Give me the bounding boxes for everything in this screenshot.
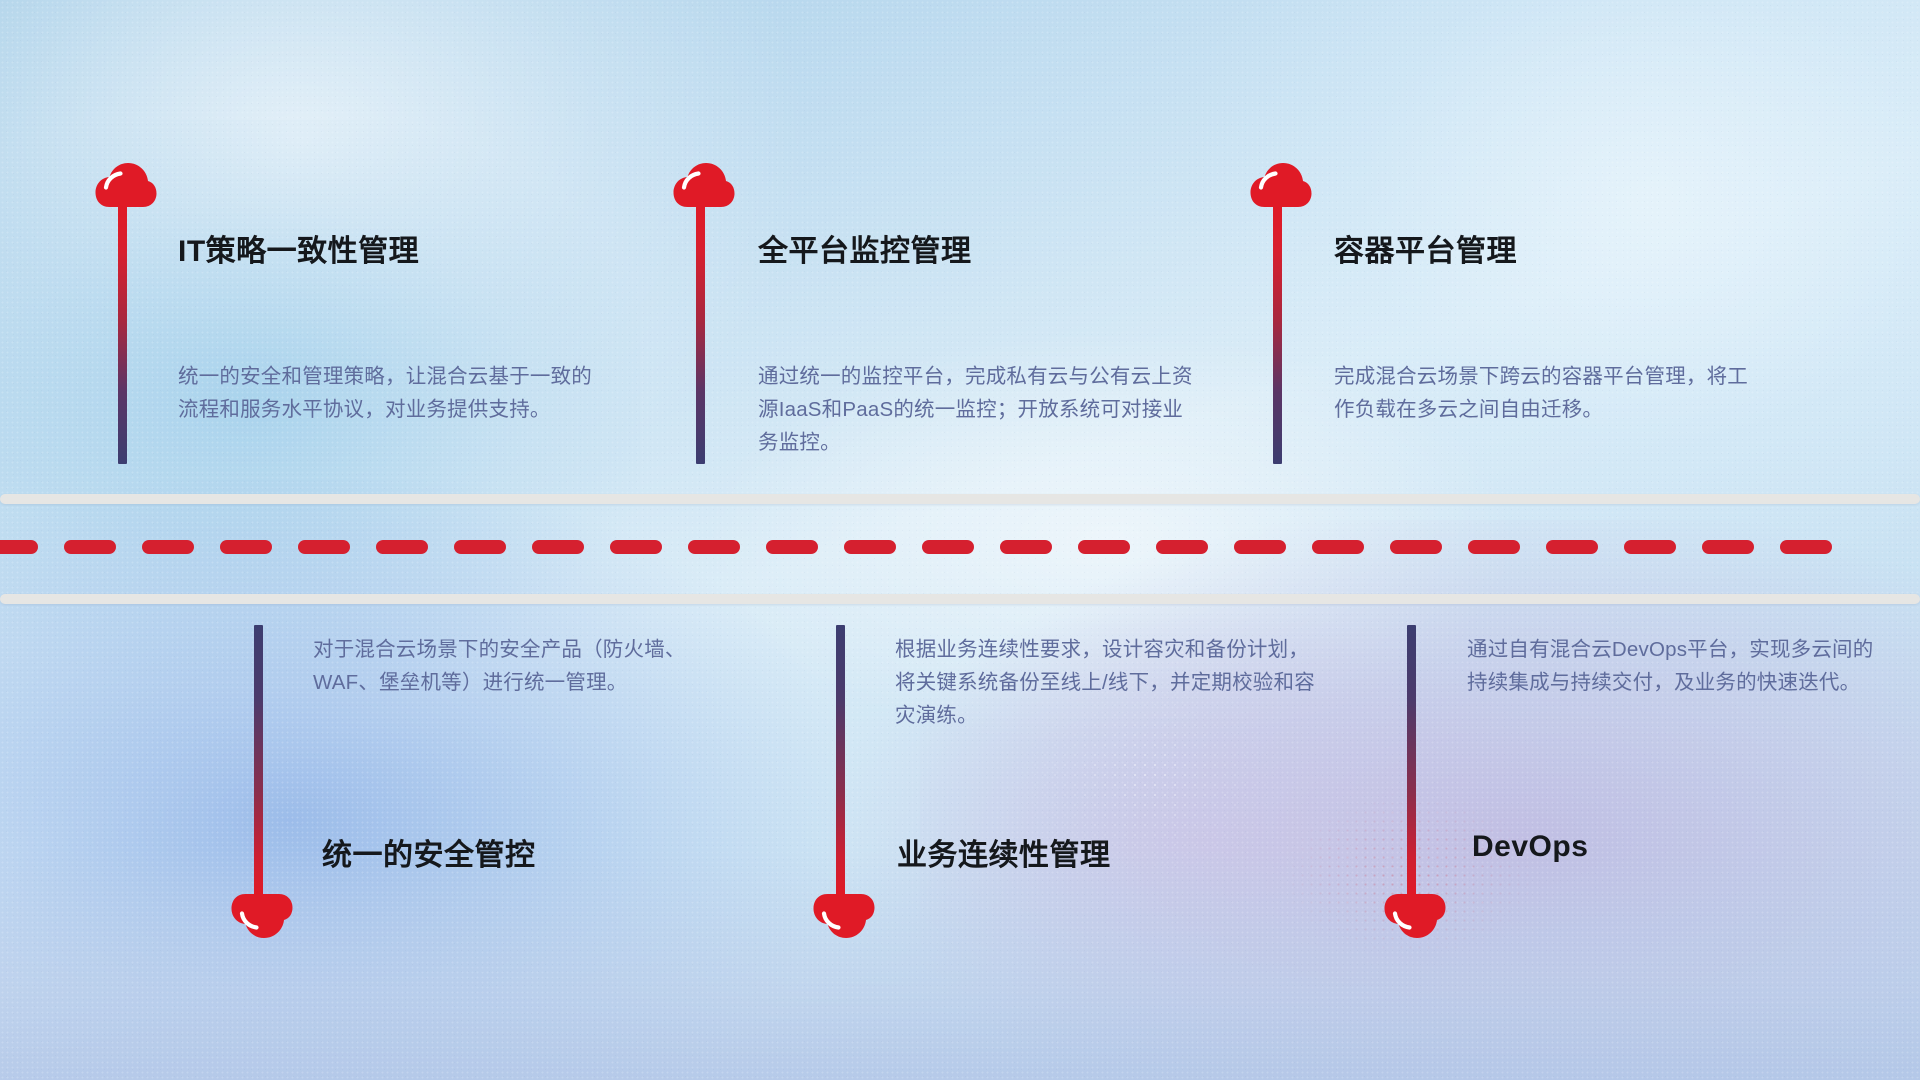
cloud-icon <box>231 893 293 939</box>
cloud-icon <box>673 162 735 208</box>
card-title: 业务连续性管理 <box>897 830 1111 874</box>
divider-bar-bottom <box>0 594 1920 604</box>
connector-stem <box>1407 625 1416 895</box>
cloud-icon <box>1250 162 1312 208</box>
card-body: 通过自有混合云DevOps平台，实现多云间的持续集成与持续交付，及业务的快速迭代… <box>1467 633 1887 699</box>
card-body: 通过统一的监控平台，完成私有云与公有云上资源IaaS和PaaS的统一监控；开放系… <box>758 360 1198 459</box>
cloud-icon <box>1384 893 1446 939</box>
connector-stem <box>696 204 705 464</box>
connector-stem <box>836 625 845 895</box>
card-title: 容器平台管理 <box>1334 226 1517 270</box>
card-title: 统一的安全管控 <box>322 830 536 874</box>
card-body: 统一的安全和管理策略，让混合云基于一致的流程和服务水平协议，对业务提供支持。 <box>178 360 608 426</box>
cloud-icon <box>95 162 157 208</box>
connector-stem <box>1273 204 1282 464</box>
card-title: DevOps <box>1472 830 1588 864</box>
card-title: 全平台监控管理 <box>758 226 972 270</box>
divider-bar-top <box>0 494 1920 504</box>
connector-stem <box>254 625 263 895</box>
card-body: 根据业务连续性要求，设计容灾和备份计划，将关键系统备份至线上/线下，并定期校验和… <box>895 633 1315 732</box>
infographic-canvas: IT策略一致性管理 统一的安全和管理策略，让混合云基于一致的流程和服务水平协议，… <box>0 0 1920 1080</box>
card-body: 对于混合云场景下的安全产品（防火墙、WAF、堡垒机等）进行统一管理。 <box>313 633 733 699</box>
card-body: 完成混合云场景下跨云的容器平台管理，将工作负载在多云之间自由迁移。 <box>1334 360 1764 426</box>
cloud-icon <box>813 893 875 939</box>
connector-stem <box>118 204 127 464</box>
card-title: IT策略一致性管理 <box>178 226 419 270</box>
